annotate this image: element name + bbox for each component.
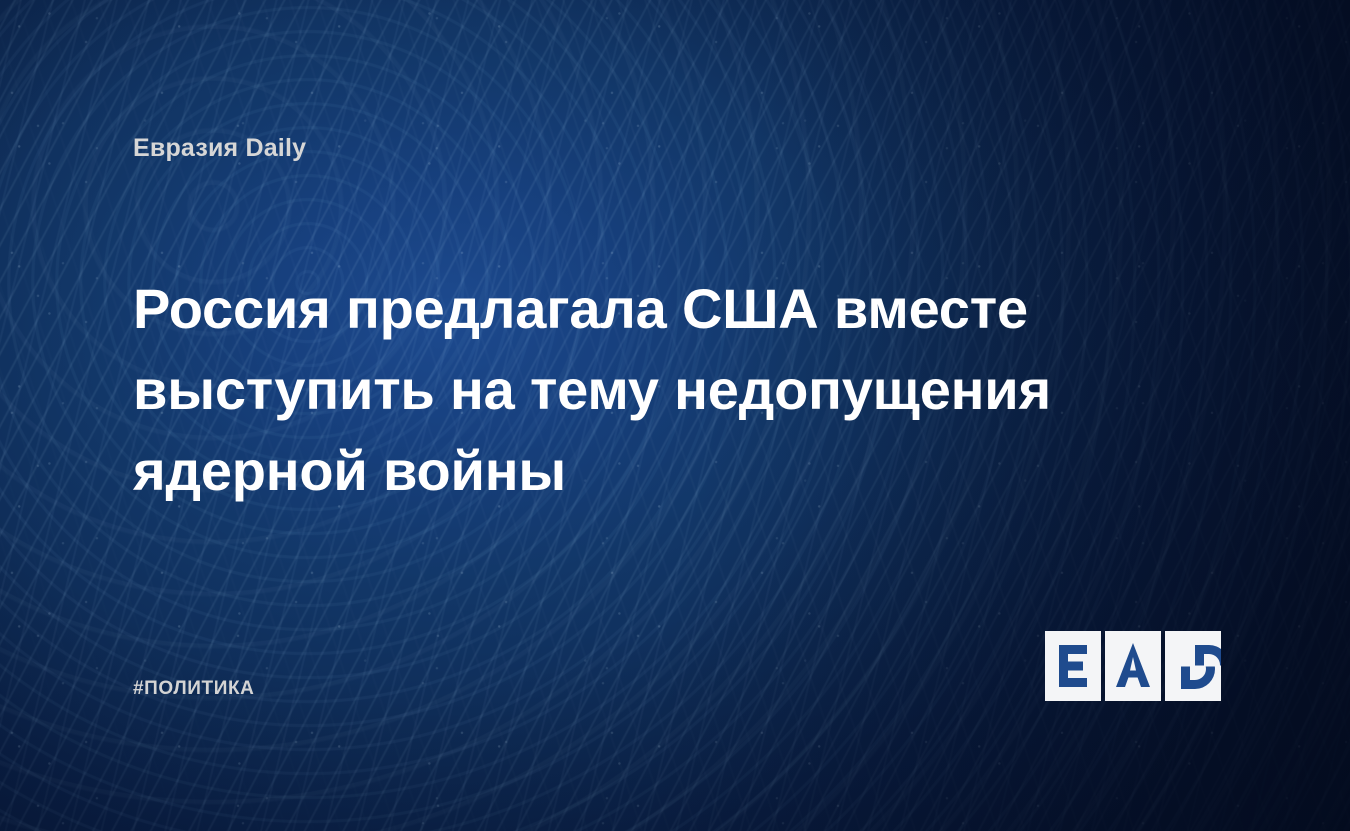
brand-name: Евразия Daily [133, 136, 306, 161]
card-content: Евразия Daily Россия предлагала США вмес… [0, 0, 1350, 831]
headline: Россия предлагала США вместе выступить н… [133, 268, 1073, 511]
eadaily-logo[interactable] [1045, 631, 1221, 701]
logo-tile-e-icon [1045, 631, 1101, 701]
logo-tile-a-icon [1105, 631, 1161, 701]
logo-tile-split-d-icon [1165, 631, 1221, 701]
news-card: Евразия Daily Россия предлагала США вмес… [0, 0, 1350, 831]
category-tag[interactable]: #ПОЛИТИКА [133, 679, 255, 698]
